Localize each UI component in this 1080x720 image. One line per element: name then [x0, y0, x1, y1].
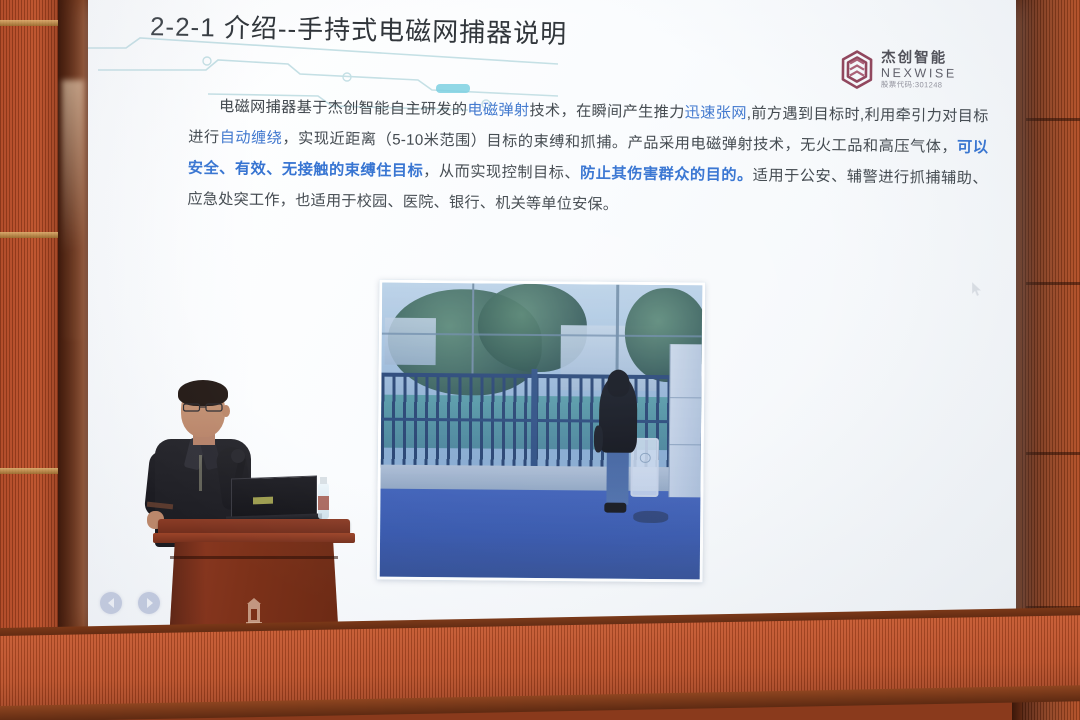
slide-navigation-controls[interactable]	[100, 592, 160, 614]
body-segment-9: 防止其伤害群众的目的。	[580, 165, 753, 184]
logo-stock-code: 股票代码:301248	[881, 81, 957, 90]
slide-photo	[377, 280, 706, 583]
body-segment-5: 自动缠绕	[220, 129, 283, 147]
company-logo: 杰创智能 NEXWISE 股票代码:301248	[840, 49, 957, 90]
wall-seam	[1026, 452, 1080, 455]
mouse-cursor	[972, 282, 982, 297]
logo-text-block: 杰创智能 NEXWISE 股票代码:301248	[881, 51, 957, 89]
body-segment-1: 电磁弹射	[467, 101, 529, 119]
wall-gold-trim	[0, 232, 62, 238]
presenter-shirt-placket	[199, 455, 202, 491]
water-bottle-cap	[320, 477, 327, 484]
left-wood-wall	[0, 0, 60, 720]
nexwise-logo-icon	[840, 49, 874, 89]
body-segment-8: ，从而实现控制目标、	[423, 163, 580, 182]
microphone-head	[231, 449, 245, 463]
laptop-sticker	[253, 497, 273, 505]
laptop-screen	[231, 475, 317, 518]
body-segment-3: 迅速张网	[685, 104, 747, 122]
water-bottle-label	[318, 496, 329, 510]
podium-lip	[153, 533, 355, 543]
slide-body-text: 电磁网捕器基于杰创智能自主研发的电磁弹射技术，在瞬间产生推力迅速张网,前方遇到目…	[187, 91, 989, 225]
wall-gold-trim	[0, 468, 62, 474]
next-slide-button[interactable]	[138, 592, 160, 614]
wall-seam	[1026, 118, 1080, 121]
presentation-room-scene: 2-2-1 介绍--手持式电磁网捕器说明 电磁网捕器基于杰创智能自主研发的电磁弹…	[0, 0, 1080, 720]
chevron-left-icon	[107, 598, 116, 608]
logo-company-cn: 杰创智能	[881, 51, 957, 67]
chevron-right-icon	[145, 598, 154, 608]
body-segment-2: 技术，在瞬间产生推力	[529, 102, 684, 121]
podium-groove	[170, 556, 338, 559]
pillar-light-reflection	[62, 80, 84, 340]
body-segment-0: 电磁网捕器基于杰创智能自主研发的	[219, 98, 468, 118]
body-segment-6: ，实现近距离（5-10米范围）目标的束缚和抓捕。产品采用电磁弹射技术，无火工品和…	[282, 130, 957, 156]
photo-color-cast	[380, 283, 703, 580]
logo-company-en: NEXWISE	[881, 66, 957, 80]
wall-seam	[1026, 282, 1080, 285]
wall-gold-trim	[0, 20, 62, 26]
glasses-icon	[183, 403, 225, 412]
previous-slide-button[interactable]	[100, 592, 122, 614]
